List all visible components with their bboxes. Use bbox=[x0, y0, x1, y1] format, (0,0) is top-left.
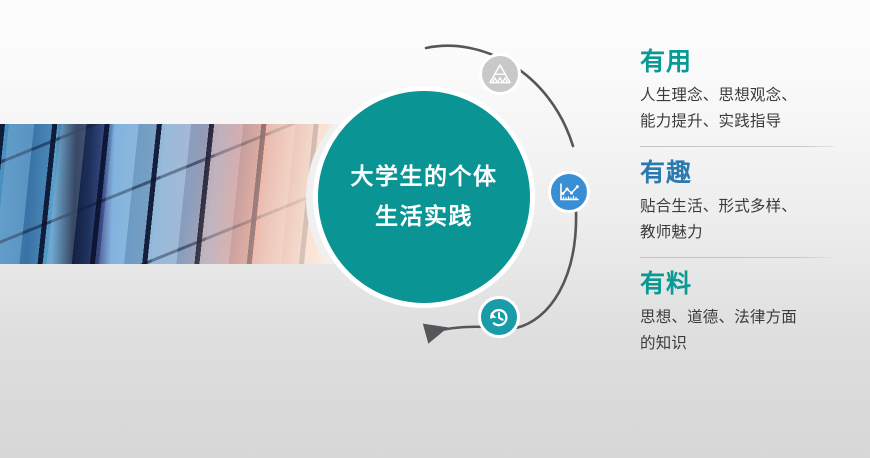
topic-block-rich: 有料 思想、道德、法律方面 的知识 bbox=[640, 268, 840, 356]
topic-heading-useful: 有用 bbox=[640, 46, 840, 78]
topic-block-useful: 有用 人生理念、思想观念、 能力提升、实践指导 bbox=[640, 46, 840, 134]
topic-heading-rich: 有料 bbox=[640, 268, 840, 300]
badge-clock[interactable] bbox=[478, 296, 520, 338]
arc-segment-arrow bbox=[428, 327, 486, 333]
topic-body-useful: 人生理念、思想观念、 能力提升、实践指导 bbox=[640, 82, 840, 134]
badge-chart[interactable] bbox=[548, 171, 590, 213]
topic-body-fun: 贴合生活、形式多样、 教师魅力 bbox=[640, 193, 840, 245]
topic-block-fun: 有趣 贴合生活、形式多样、 教师魅力 bbox=[640, 157, 840, 245]
topic-body-rich: 思想、道德、法律方面 的知识 bbox=[640, 304, 840, 356]
pyramid-triangle-icon bbox=[489, 64, 511, 84]
clock-history-icon bbox=[487, 306, 511, 329]
central-title-line-1: 大学生的个体 bbox=[351, 157, 498, 197]
badge-pyramid[interactable] bbox=[479, 53, 521, 95]
topics-list: 有用 人生理念、思想观念、 能力提升、实践指导 有趣 贴合生活、形式多样、 教师… bbox=[640, 46, 840, 356]
topic-divider-2 bbox=[640, 257, 834, 258]
topic-heading-fun: 有趣 bbox=[640, 157, 840, 189]
building-photo-image bbox=[0, 124, 345, 264]
slide-canvas: 大学生的个体 生活实践 bbox=[0, 0, 870, 458]
central-title-line-2: 生活实践 bbox=[375, 197, 473, 237]
building-photo bbox=[0, 124, 345, 264]
central-topic-circle[interactable]: 大学生的个体 生活实践 bbox=[313, 86, 535, 308]
topic-divider-1 bbox=[640, 146, 834, 147]
line-chart-icon bbox=[558, 182, 580, 203]
